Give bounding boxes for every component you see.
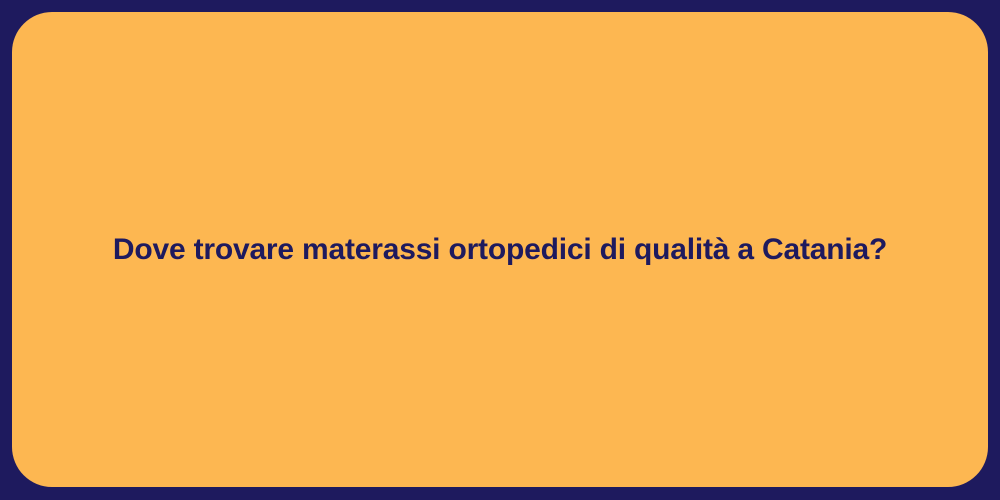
card-frame: Dove trovare materassi ortopedici di qua… <box>0 0 1000 500</box>
page-title: Dove trovare materassi ortopedici di qua… <box>113 231 887 269</box>
card-panel: Dove trovare materassi ortopedici di qua… <box>12 12 988 487</box>
